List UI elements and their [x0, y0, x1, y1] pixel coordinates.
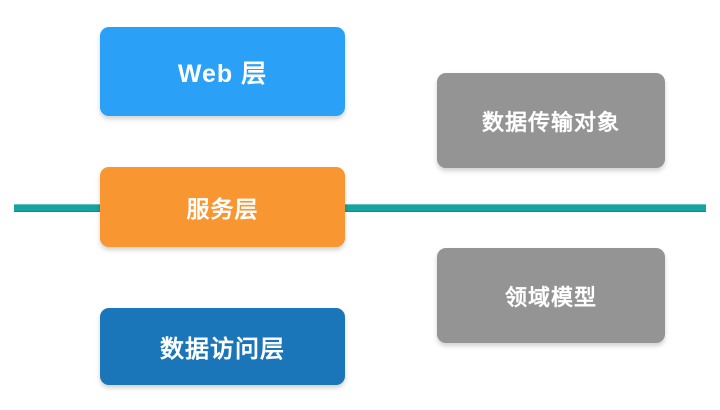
layer-box-web[interactable]: Web 层	[100, 27, 345, 116]
layer-box-service-label: 服务层	[187, 190, 259, 224]
layer-box-data-access[interactable]: 数据访问层	[100, 308, 345, 385]
layer-box-service[interactable]: 服务层	[100, 167, 345, 247]
layer-box-data-access-label: 数据访问层	[160, 329, 285, 364]
layer-box-domain-model-label: 领域模型	[505, 280, 597, 312]
diagram-canvas: Web 层 服务层 数据访问层 数据传输对象 领域模型	[0, 0, 720, 410]
layer-box-data-transfer-object[interactable]: 数据传输对象	[437, 73, 665, 168]
layer-box-domain-model[interactable]: 领域模型	[437, 248, 665, 343]
layer-box-data-transfer-object-label: 数据传输对象	[482, 105, 620, 137]
layer-box-web-label: Web 层	[178, 54, 267, 90]
